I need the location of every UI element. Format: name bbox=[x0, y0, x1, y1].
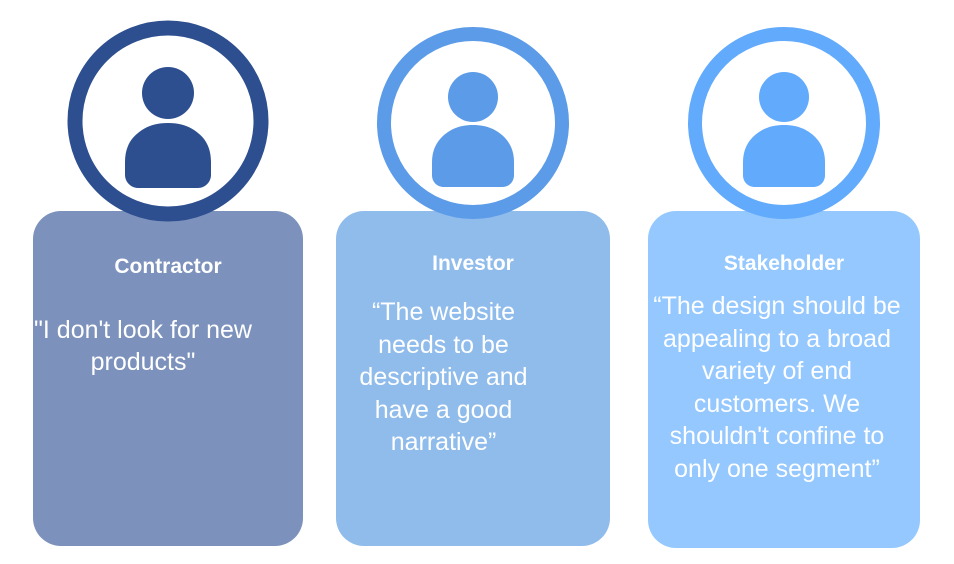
avatar-badge-contractor bbox=[67, 20, 269, 222]
person-avatar-icon bbox=[377, 27, 569, 219]
persona-card-investor[interactable]: Investor “The website needs to be descri… bbox=[336, 211, 610, 546]
persona-card-contractor[interactable]: Contractor "I don't look for new product… bbox=[33, 211, 303, 546]
persona-quote: “The design should be appealing to a bro… bbox=[648, 290, 906, 485]
persona-quote: “The website needs to be descriptive and… bbox=[336, 296, 551, 459]
persona-title: Investor bbox=[336, 252, 610, 276]
persona-quote: "I don't look for new products" bbox=[33, 314, 253, 378]
persona-title: Stakeholder bbox=[648, 252, 920, 276]
persona-card-stakeholder[interactable]: Stakeholder “The design should be appeal… bbox=[648, 211, 920, 548]
avatar-badge-stakeholder bbox=[688, 27, 880, 219]
person-avatar-icon bbox=[688, 27, 880, 219]
persona-title: Contractor bbox=[33, 255, 303, 279]
person-avatar-icon bbox=[67, 20, 269, 222]
avatar-badge-investor bbox=[377, 27, 569, 219]
persona-board: Contractor "I don't look for new product… bbox=[0, 0, 954, 564]
